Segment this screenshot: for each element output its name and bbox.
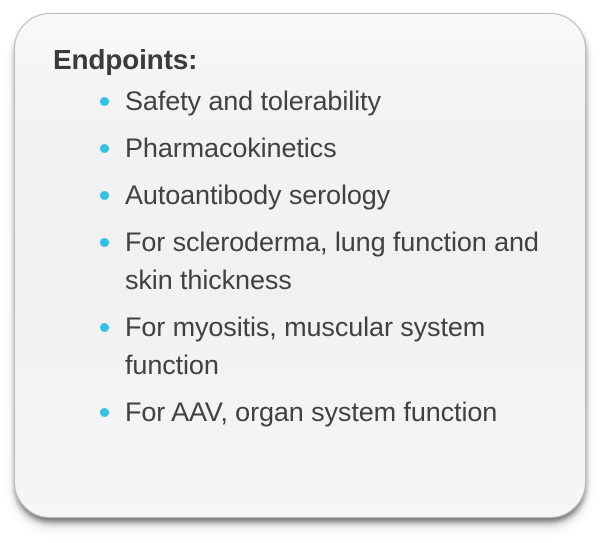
list-item: Pharmacokinetics — [53, 129, 559, 167]
page-title: Endpoints: — [53, 44, 559, 76]
list-item-label: For myositis, muscular system function — [125, 308, 559, 384]
endpoints-list: Safety and tolerability Pharmacokinetics… — [53, 82, 559, 431]
bullet-dot-icon — [100, 323, 109, 332]
bullet-dot-icon — [100, 97, 109, 106]
list-item-label: Autoantibody serology — [125, 176, 559, 214]
list-item-label: For scleroderma, lung function and skin … — [125, 223, 559, 299]
bullet-dot-icon — [100, 408, 109, 417]
list-item: Autoantibody serology — [53, 176, 559, 214]
list-item-label: For AAV, organ system function — [125, 393, 559, 431]
bullet-dot-icon — [100, 191, 109, 200]
endpoints-card: Endpoints: Safety and tolerability Pharm… — [14, 13, 586, 518]
list-item: Safety and tolerability — [53, 82, 559, 120]
list-item-label: Pharmacokinetics — [125, 129, 559, 167]
card-content: Endpoints: Safety and tolerability Pharm… — [15, 14, 585, 431]
list-item: For AAV, organ system function — [53, 393, 559, 431]
list-item: For scleroderma, lung function and skin … — [53, 223, 559, 299]
list-item-label: Safety and tolerability — [125, 82, 559, 120]
bullet-dot-icon — [100, 238, 109, 247]
slide-canvas: Endpoints: Safety and tolerability Pharm… — [0, 0, 609, 543]
bullet-dot-icon — [100, 144, 109, 153]
list-item: For myositis, muscular system function — [53, 308, 559, 384]
